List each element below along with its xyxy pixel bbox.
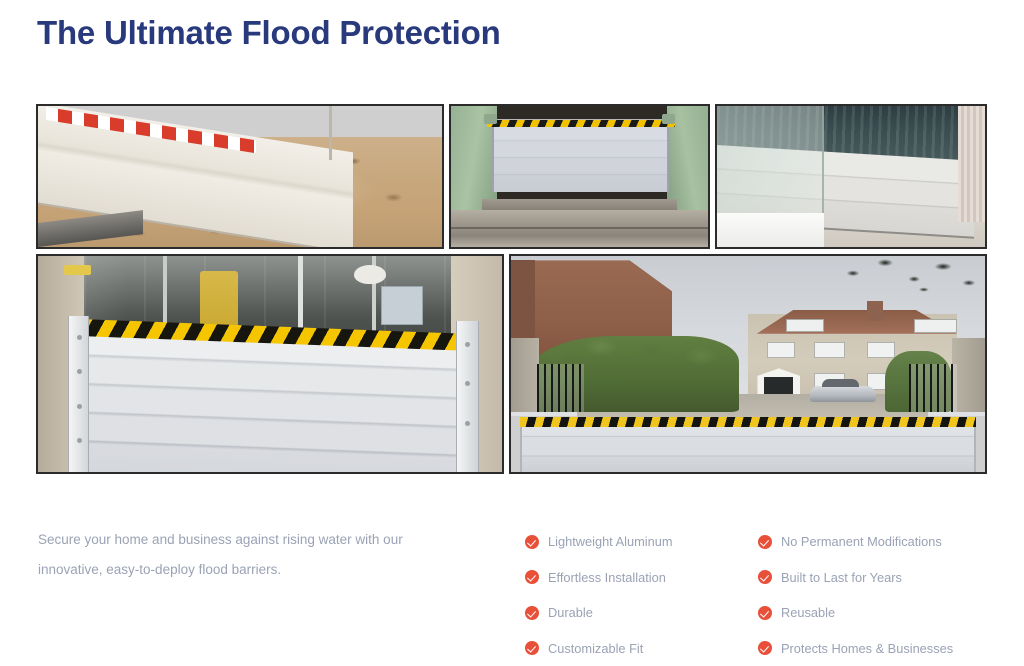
post-bolt <box>77 438 82 443</box>
yellow-black-hazard-tape <box>520 417 975 427</box>
tree-branches <box>824 256 985 304</box>
check-circle-icon <box>525 641 539 655</box>
house-window <box>767 342 795 357</box>
photo-green-doorway-barrier[interactable] <box>449 104 710 249</box>
page-root: The Ultimate Flood Protection <box>0 0 1024 666</box>
check-circle-icon <box>758 570 772 584</box>
post-bolt <box>465 342 470 347</box>
post-bolt <box>77 404 82 409</box>
post-bolt <box>77 369 82 374</box>
silver-car <box>810 386 876 402</box>
house-window <box>814 342 845 357</box>
photo-driveway-house-barrier[interactable] <box>509 254 987 474</box>
window-sill <box>717 213 824 247</box>
driveway-barrier-panels <box>520 420 975 472</box>
gallery-row-bottom <box>36 254 987 474</box>
flood-barrier-photo-gallery <box>36 104 987 474</box>
feature-item: Lightweight Aluminum <box>525 524 758 560</box>
page-title: The Ultimate Flood Protection <box>37 12 501 54</box>
feature-item: Effortless Installation <box>525 560 758 596</box>
photo-driveway-house-barrier-content <box>511 256 985 472</box>
post-bolt <box>465 381 470 386</box>
iron-gate-right <box>909 364 956 412</box>
yellow-wall-sign <box>64 265 92 276</box>
feature-label: Durable <box>548 605 593 620</box>
interior-cabinet <box>381 286 423 325</box>
feature-label: Reusable <box>781 605 835 620</box>
check-circle-icon <box>525 570 539 584</box>
barrier-post-left <box>68 316 89 472</box>
feature-column-left: Lightweight Aluminum Effortless Installa… <box>525 524 758 666</box>
check-circle-icon <box>758 641 772 655</box>
feature-item: Customizable Fit <box>525 631 758 666</box>
feature-label: Built to Last for Years <box>781 570 902 585</box>
check-circle-icon <box>525 535 539 549</box>
post-bolt <box>465 421 470 426</box>
feature-label: No Permanent Modifications <box>781 534 942 549</box>
gate-pillar-left <box>511 338 539 411</box>
photo-flooded-street-barrier-content <box>38 106 442 247</box>
check-circle-icon <box>525 606 539 620</box>
barrier-post <box>329 106 332 160</box>
feature-label: Lightweight Aluminum <box>548 534 672 549</box>
check-circle-icon <box>758 535 772 549</box>
photo-interior-glass-barrier[interactable] <box>715 104 987 249</box>
glass-pane <box>717 106 824 230</box>
photo-flooded-street-barrier[interactable] <box>36 104 444 249</box>
barrier-post-right <box>456 321 479 472</box>
feature-item: Built to Last for Years <box>758 560 991 596</box>
curtain-edge <box>958 106 985 222</box>
feature-label: Customizable Fit <box>548 641 643 656</box>
barrier-clamp-left <box>484 114 497 124</box>
feature-list: Lightweight Aluminum Effortless Installa… <box>525 524 995 666</box>
post-bolt <box>77 335 82 340</box>
photo-storefront-barrier-content <box>38 256 502 472</box>
storefront-barrier-panels <box>75 329 469 472</box>
check-circle-icon <box>758 606 772 620</box>
feature-label: Protects Homes & Businesses <box>781 641 953 656</box>
dormer-window-left <box>786 319 824 332</box>
aluminium-barrier-panels <box>492 124 669 192</box>
yellow-black-hazard-tape <box>487 119 675 127</box>
iron-gate-left <box>537 364 584 412</box>
gallery-row-top <box>36 104 987 249</box>
house-window <box>867 342 895 357</box>
feature-item: Durable <box>525 595 758 631</box>
feature-label: Effortless Installation <box>548 570 666 585</box>
interior-lamp <box>354 265 386 284</box>
dormer-window-right <box>914 319 957 333</box>
chimney <box>867 301 883 320</box>
concrete-ground <box>451 210 708 247</box>
feature-item: Reusable <box>758 595 991 631</box>
feature-item: No Permanent Modifications <box>758 524 991 560</box>
photo-green-doorway-barrier-content <box>451 106 708 247</box>
feature-item: Protects Homes & Businesses <box>758 631 991 666</box>
barrier-clamp-right <box>662 114 675 124</box>
photo-interior-glass-barrier-content <box>717 106 985 247</box>
product-description: Secure your home and business against ri… <box>38 525 468 585</box>
gate-pillar-right <box>952 338 985 411</box>
feature-column-right: No Permanent Modifications Built to Last… <box>758 524 991 666</box>
photo-storefront-barrier[interactable] <box>36 254 504 474</box>
